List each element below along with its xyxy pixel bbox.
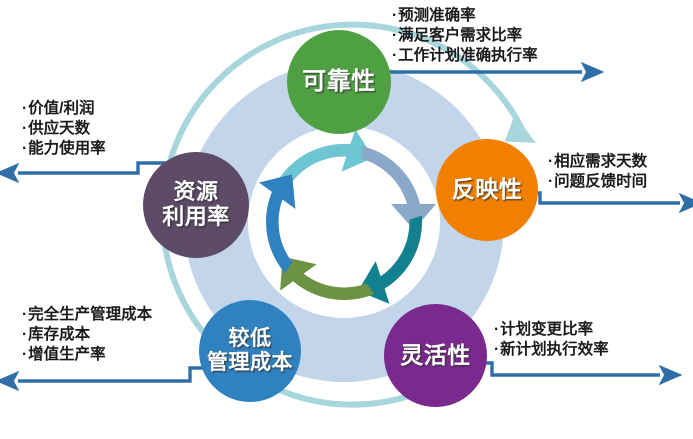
- metric-item: 计划变更比率: [494, 320, 609, 340]
- metric-item: 完全生产管理成本: [22, 305, 152, 325]
- metrics-resource-utilization: 价值/利润 供应天数 能力使用率: [22, 99, 106, 159]
- metric-item: 满足客户需求比率: [392, 26, 538, 46]
- connector-resource: [18, 163, 168, 173]
- metric-item: 相应需求天数: [548, 152, 647, 172]
- node-responsiveness[interactable]: 反映性: [436, 139, 538, 241]
- metric-item: 工作计划准确执行率: [392, 46, 538, 66]
- connector-flexibility: [470, 363, 660, 375]
- node-cost-label-2: 管理成本: [207, 351, 293, 375]
- node-reliability-label-1: 可靠性: [302, 69, 376, 96]
- metric-item: 新计划执行效率: [494, 340, 609, 360]
- metric-item: 价值/利润: [22, 99, 106, 119]
- node-responsiveness-label-1: 反映性: [452, 177, 523, 203]
- node-resource-label-1: 资源: [173, 180, 218, 205]
- connector-responsiveness: [520, 193, 680, 203]
- node-lower-management-cost[interactable]: 较低 管理成本: [199, 300, 301, 402]
- metric-item: 预测准确率: [392, 6, 538, 26]
- metric-item: 问题反馈时间: [548, 172, 647, 192]
- metric-item: 增值生产率: [22, 345, 152, 365]
- node-cost-label-1: 较低: [229, 327, 272, 351]
- metric-item: 供应天数: [22, 119, 106, 139]
- metrics-responsiveness: 相应需求天数 问题反馈时间: [548, 152, 647, 192]
- connector-cost: [18, 368, 212, 381]
- node-flexibility-label-1: 灵活性: [400, 343, 471, 369]
- node-resource-label-2: 利用率: [162, 205, 230, 230]
- metric-item: 库存成本: [22, 325, 152, 345]
- metrics-reliability: 预测准确率 满足客户需求比率 工作计划准确执行率: [392, 6, 538, 66]
- node-reliability[interactable]: 可靠性: [287, 30, 391, 134]
- node-flexibility[interactable]: 灵活性: [384, 304, 487, 407]
- metrics-flexibility: 计划变更比率 新计划执行效率: [494, 320, 609, 360]
- node-resource-utilization[interactable]: 资源 利用率: [143, 152, 249, 258]
- pinwheel-hub: [318, 196, 370, 248]
- metric-item: 能力使用率: [22, 139, 106, 159]
- diagram-canvas: 可靠性 资源 利用率 反映性 较低 管理成本 灵活性 预测准确率 满足客户需求比…: [0, 0, 693, 439]
- metrics-lower-management-cost: 完全生产管理成本 库存成本 增值生产率: [22, 305, 152, 365]
